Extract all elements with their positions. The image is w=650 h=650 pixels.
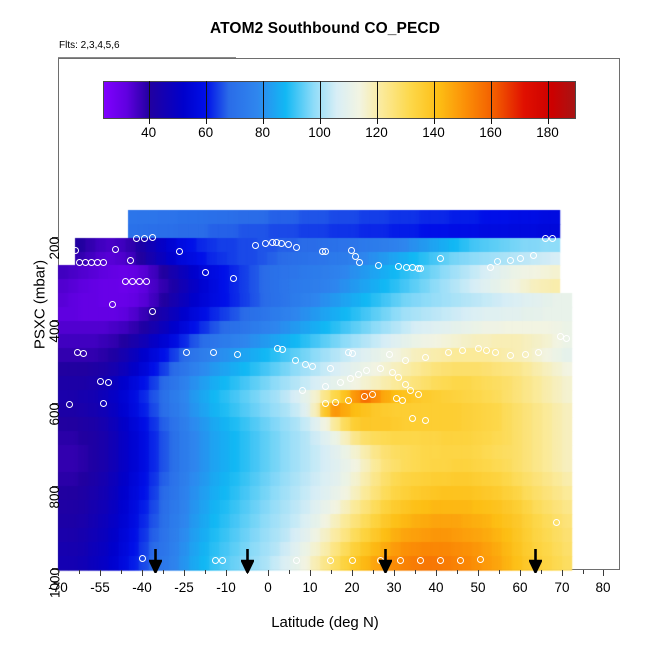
y-axis-tick-label: 800 bbox=[48, 486, 63, 509]
x-axis-title: Latitude (deg N) bbox=[0, 614, 650, 631]
x-axis-tick-label: 30 bbox=[386, 580, 401, 595]
x-axis-tick-label: -70 bbox=[48, 580, 68, 595]
x-axis-tick bbox=[310, 570, 311, 576]
x-axis-tick-label: 70 bbox=[554, 580, 569, 595]
latitude-marker-arrow bbox=[241, 549, 254, 573]
y-axis-tick-label: 200 bbox=[48, 237, 63, 260]
x-axis-tick bbox=[58, 570, 59, 576]
x-axis-tick bbox=[520, 570, 521, 576]
x-axis-tick bbox=[226, 570, 227, 576]
latitude-marker-arrow bbox=[529, 549, 542, 573]
x-axis-tick bbox=[603, 570, 604, 576]
x-axis-minor-tick bbox=[163, 570, 164, 574]
x-axis-tick-label: 10 bbox=[302, 580, 317, 595]
x-axis-tick-label: 50 bbox=[470, 580, 485, 595]
x-axis-tick-label: -55 bbox=[90, 580, 110, 595]
x-axis-tick bbox=[478, 570, 479, 576]
y-axis-title: PSXC (mbar) bbox=[32, 205, 49, 405]
x-axis-tick bbox=[352, 570, 353, 576]
x-axis-tick-label: 20 bbox=[344, 580, 359, 595]
x-axis-tick-label: 0 bbox=[264, 580, 272, 595]
x-axis-minor-tick bbox=[457, 570, 458, 574]
x-axis-minor-tick bbox=[415, 570, 416, 574]
x-axis-tick bbox=[562, 570, 563, 576]
x-axis-minor-tick bbox=[499, 570, 500, 574]
x-axis-tick-label: -40 bbox=[132, 580, 152, 595]
y-axis-tick-label: 400 bbox=[48, 320, 63, 343]
plot-root: ATOM2 Southbound CO_PECD Flts: 2,3,4,5,6… bbox=[0, 0, 650, 650]
x-axis-minor-tick bbox=[331, 570, 332, 574]
x-axis-minor-tick bbox=[205, 570, 206, 574]
x-axis-minor-tick bbox=[79, 570, 80, 574]
x-axis-tick bbox=[142, 570, 143, 576]
x-axis-minor-tick bbox=[289, 570, 290, 574]
x-axis-tick-label: 80 bbox=[595, 580, 610, 595]
latitude-marker-arrow bbox=[149, 549, 162, 573]
x-axis-tick bbox=[268, 570, 269, 576]
x-axis-minor-tick bbox=[373, 570, 374, 574]
x-axis-minor-tick bbox=[121, 570, 122, 574]
latitude-marker-arrow bbox=[379, 549, 392, 573]
x-axis-tick bbox=[394, 570, 395, 576]
x-axis-tick-label: -25 bbox=[174, 580, 194, 595]
y-axis-tick-label: 600 bbox=[48, 403, 63, 426]
x-axis-tick bbox=[436, 570, 437, 576]
x-axis-tick bbox=[100, 570, 101, 576]
x-axis-tick-label: 60 bbox=[512, 580, 527, 595]
x-axis-tick bbox=[184, 570, 185, 576]
x-axis-minor-tick bbox=[583, 570, 584, 574]
x-axis-tick-label: 40 bbox=[428, 580, 443, 595]
x-axis-tick-label: -10 bbox=[216, 580, 236, 595]
axis-layer: 2004006008001000-70-55-40-25-10010203040… bbox=[0, 0, 650, 650]
